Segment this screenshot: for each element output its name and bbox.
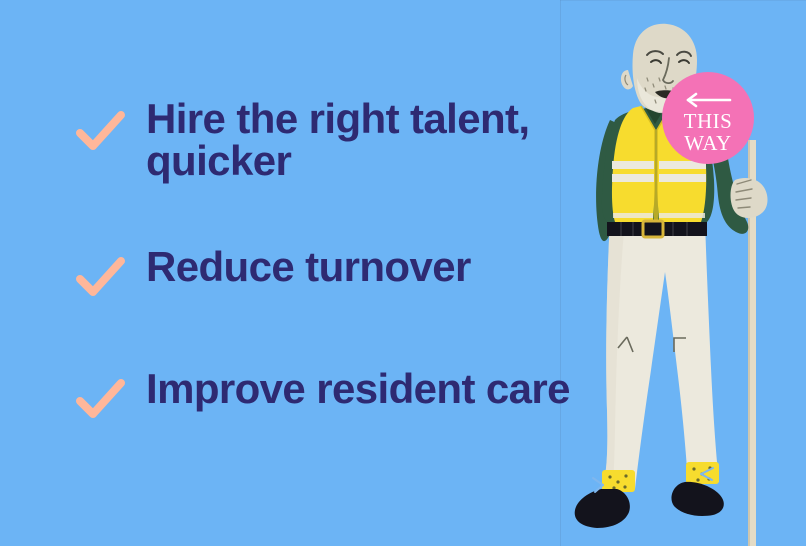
check-icon <box>72 370 128 426</box>
illustration-elderly-man: THIS WAY <box>555 0 806 546</box>
benefits-list: Hire the right talent, quicker Reduce tu… <box>0 0 600 546</box>
check-icon <box>72 102 128 158</box>
list-item-label: Reduce turnover <box>146 246 471 288</box>
sign-line-1: THIS <box>684 109 733 133</box>
sign-line-2: WAY <box>684 131 731 155</box>
list-item: Reduce turnover <box>72 246 471 304</box>
list-item-label: Improve resident care <box>146 368 570 410</box>
figure-belt <box>607 221 707 237</box>
figure-legs <box>603 218 719 489</box>
check-icon <box>72 248 128 304</box>
slide-canvas: Hire the right talent, quicker Reduce tu… <box>0 0 806 546</box>
list-item: Improve resident care <box>72 368 570 426</box>
this-way-sign: THIS WAY <box>662 72 754 164</box>
list-item-label: Hire the right talent, quicker <box>146 98 530 182</box>
figure-hand <box>731 178 768 218</box>
list-item: Hire the right talent, quicker <box>72 98 530 182</box>
